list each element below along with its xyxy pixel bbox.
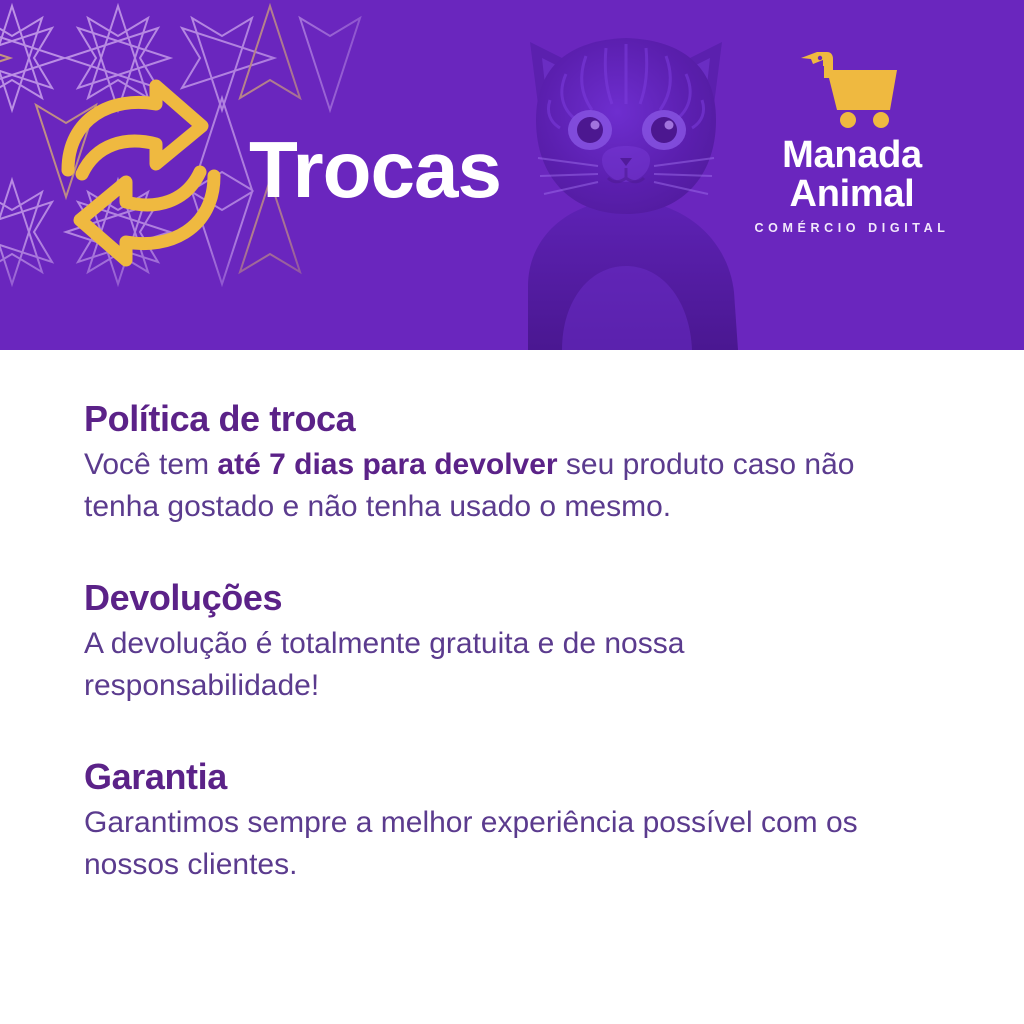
policy-content: Política de troca Você tem até 7 dias pa… xyxy=(84,398,944,887)
policy-section-garantia: Garantia Garantimos sempre a melhor expe… xyxy=(84,756,944,887)
body-text-part: Você tem xyxy=(84,448,217,481)
brand-tagline: COMÉRCIO DIGITAL xyxy=(747,221,957,235)
section-heading: Política de troca xyxy=(84,398,944,440)
policy-section-troca: Política de troca Você tem até 7 dias pa… xyxy=(84,398,944,529)
section-body: A devolução é totalmente gratuita e de n… xyxy=(84,623,904,708)
banner: Trocas xyxy=(0,0,1024,350)
promo-card: Trocas xyxy=(0,0,1024,1024)
brand-name-line1: Manada xyxy=(747,136,957,175)
section-body: Você tem até 7 dias para devolver seu pr… xyxy=(84,444,904,529)
section-heading: Devoluções xyxy=(84,577,944,619)
brand-logo[interactable]: Manada Animal COMÉRCIO DIGITAL xyxy=(747,48,957,235)
body-text-part: Garantimos sempre a melhor experiência p… xyxy=(84,806,858,882)
exchange-arrows-icon xyxy=(60,78,222,268)
banner-title: Trocas xyxy=(249,130,501,210)
brand-name-line2: Animal xyxy=(747,175,957,214)
policy-section-devolucoes: Devoluções A devolução é totalmente grat… xyxy=(84,577,944,708)
section-body: Garantimos sempre a melhor experiência p… xyxy=(84,802,904,887)
body-text-part: A devolução é totalmente gratuita e de n… xyxy=(84,627,684,703)
section-heading: Garantia xyxy=(84,756,944,798)
body-text-emphasis: até 7 dias para devolver xyxy=(217,448,557,481)
animal-shopping-cart-icon xyxy=(797,48,907,128)
